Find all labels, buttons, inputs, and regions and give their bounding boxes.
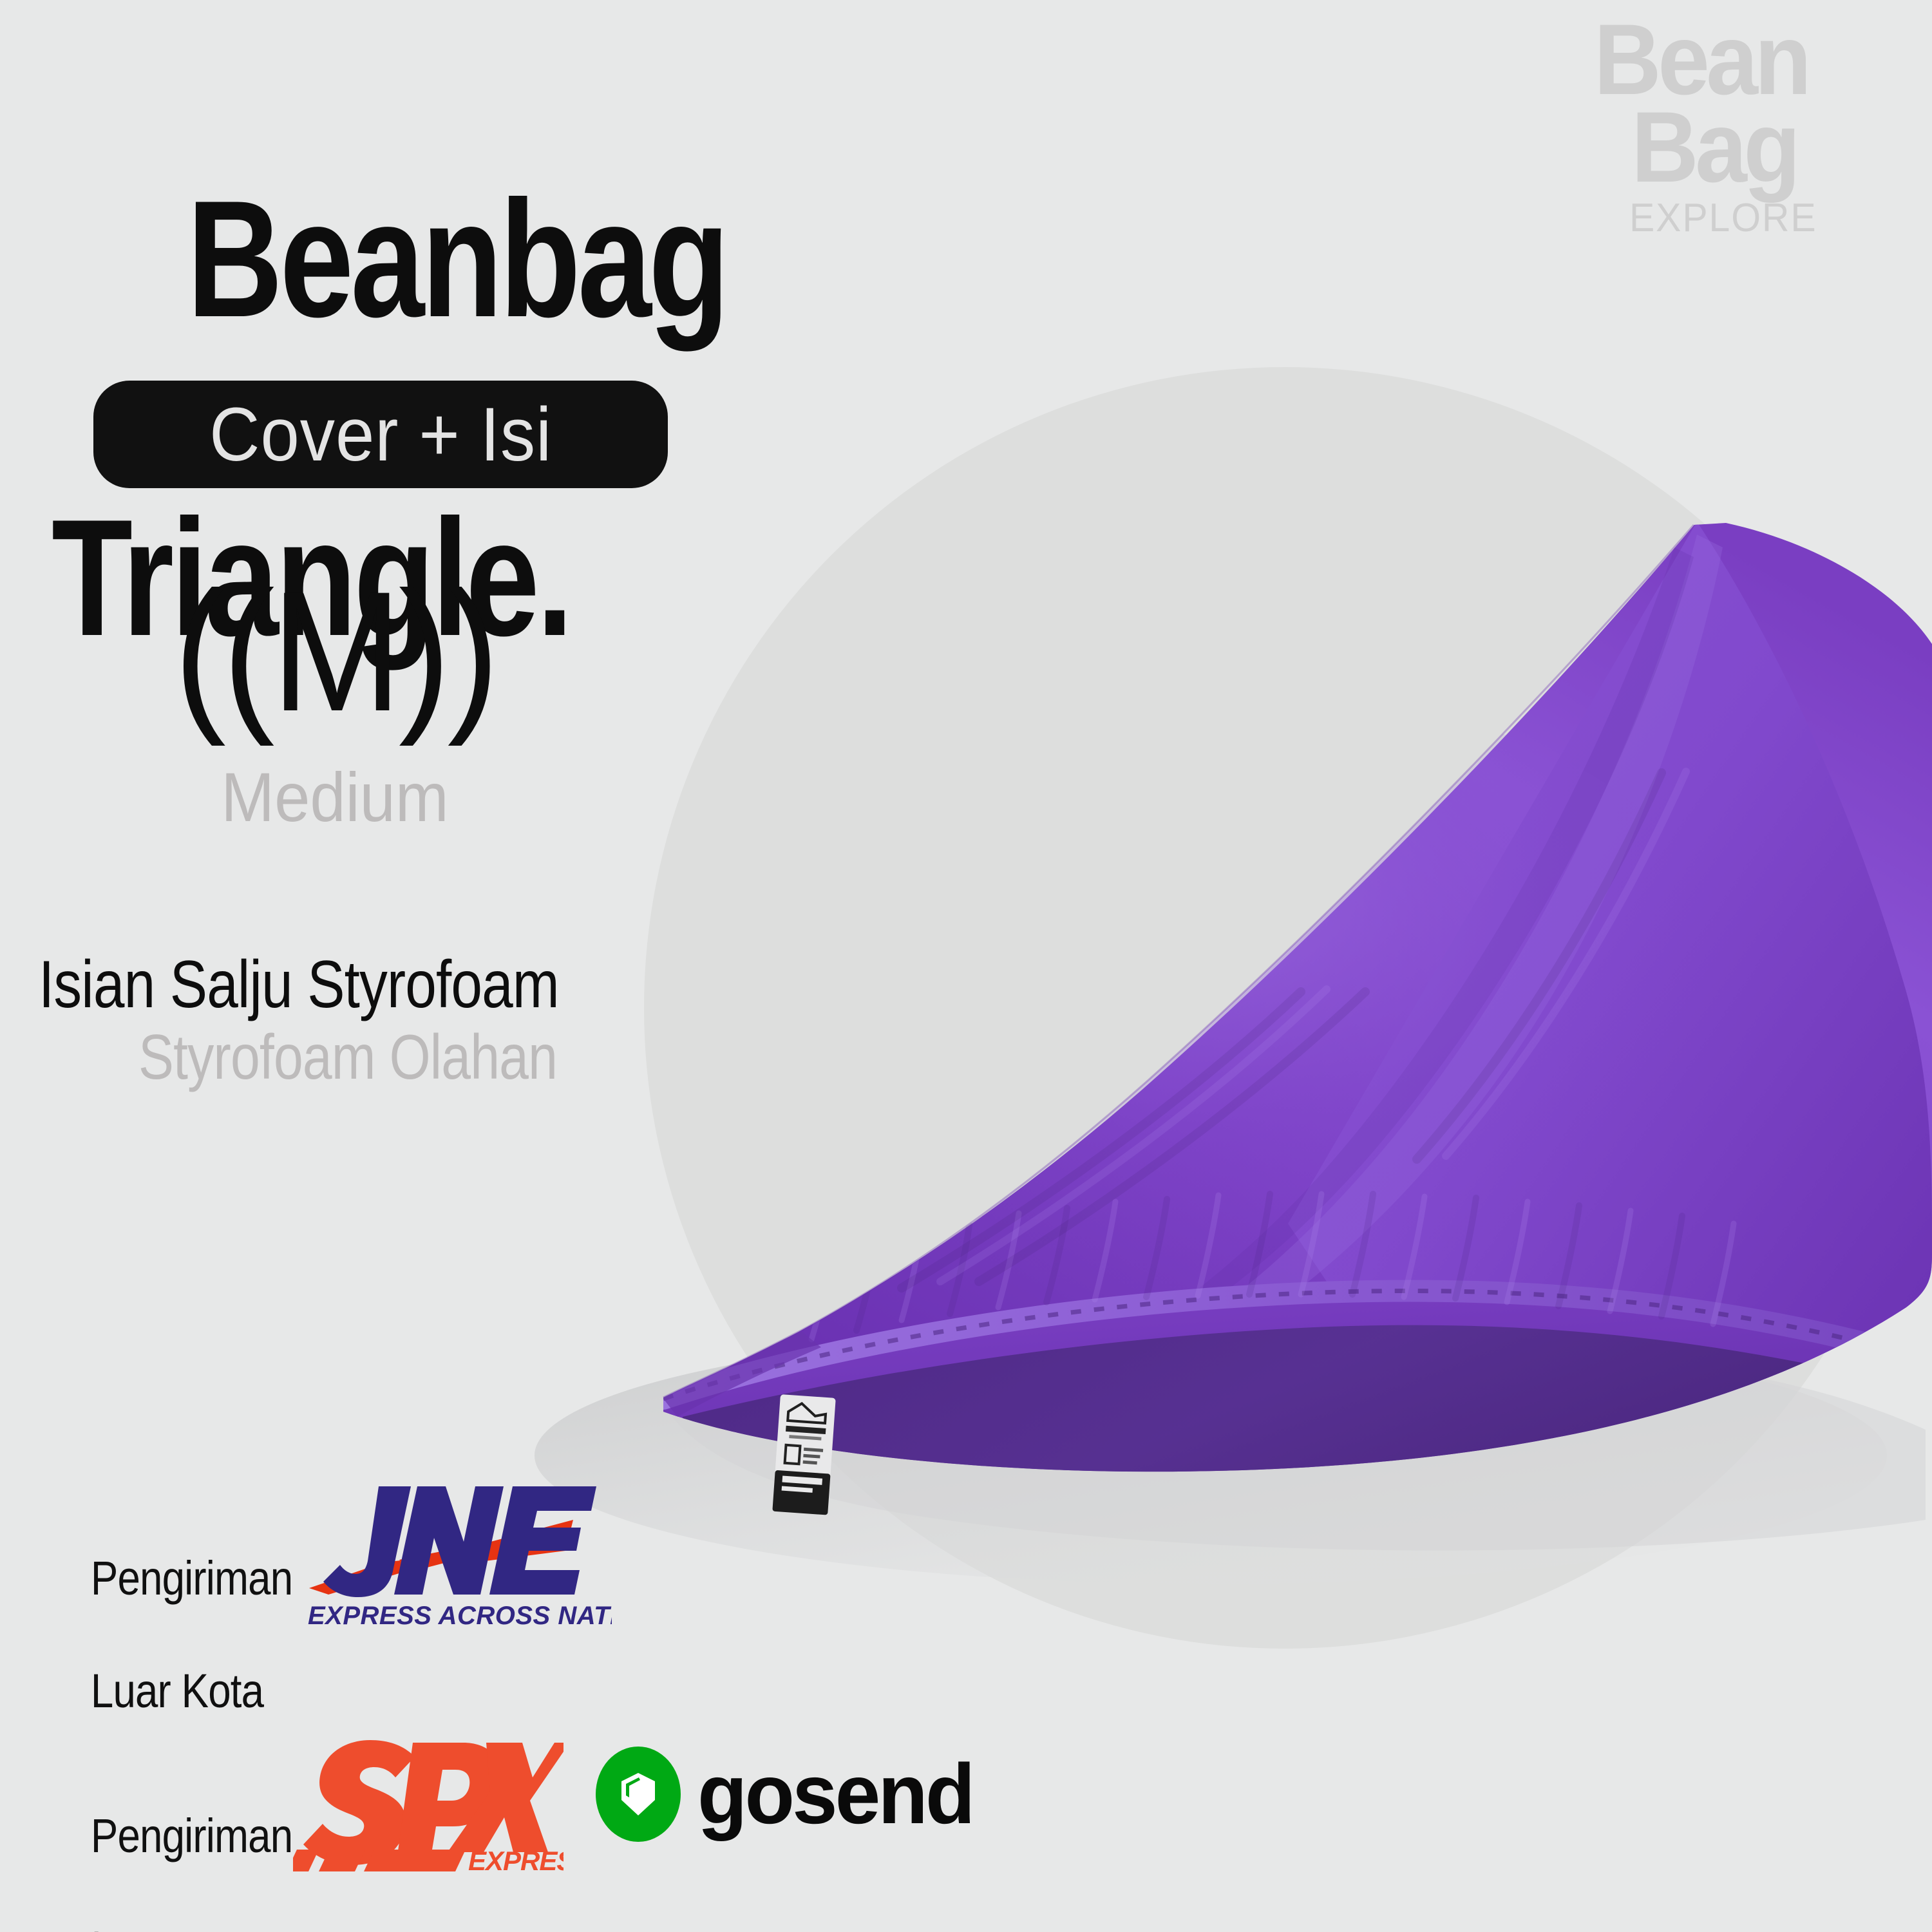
size-name: Medium [109, 757, 560, 837]
cover-isi-badge: Cover + Isi [93, 381, 668, 488]
gosend-wordmark: gosend [697, 1745, 973, 1842]
gosend-mark-icon [596, 1747, 681, 1842]
shipping-label-out-of-town: Pengiriman Luar Kota [26, 1494, 292, 1776]
filling-title: Isian Salju Styrofoam [39, 947, 559, 1023]
shipping-label-instant: Pengiriman Instan [26, 1752, 292, 1932]
shipping-label-line2: Luar Kota [91, 1664, 263, 1718]
cover-isi-badge-label: Cover + Isi [209, 391, 552, 478]
product-brand-tag [772, 1394, 835, 1515]
spx-tagline: EXPRESS [468, 1846, 563, 1876]
spx-logo: EXPRESS [293, 1732, 563, 1880]
gosend-logo: gosend [596, 1745, 984, 1842]
shipping-row-out-of-town: Pengiriman Luar Kota [26, 1494, 336, 1776]
brand-watermark-line3: EXPLORE [1629, 195, 1883, 241]
filling-subtitle: Styrofoam Olahan [138, 1021, 557, 1094]
jne-logo: EXPRESS ACROSS NATIONS [303, 1475, 612, 1636]
jne-tagline: EXPRESS ACROSS NATIONS [308, 1602, 612, 1630]
page-title-line1: Beanbag [187, 166, 726, 352]
shipping-label-line2: Instan [91, 1922, 199, 1932]
brand-watermark-line2: Bag [1631, 102, 1878, 193]
shipping-label-line1: Pengiriman [91, 1551, 292, 1605]
product-poster: Beanbag Triangle. Cover + Isi ((M)) Medi… [0, 0, 1932, 1932]
brand-watermark: Bean Bag EXPLORE [1594, 18, 1897, 241]
shipping-row-instant: Pengiriman Instan [26, 1752, 336, 1932]
brand-watermark-line1: Bean [1594, 18, 1875, 102]
shipping-label-line1: Pengiriman [91, 1809, 292, 1862]
size-code: ((M)) [109, 554, 560, 750]
